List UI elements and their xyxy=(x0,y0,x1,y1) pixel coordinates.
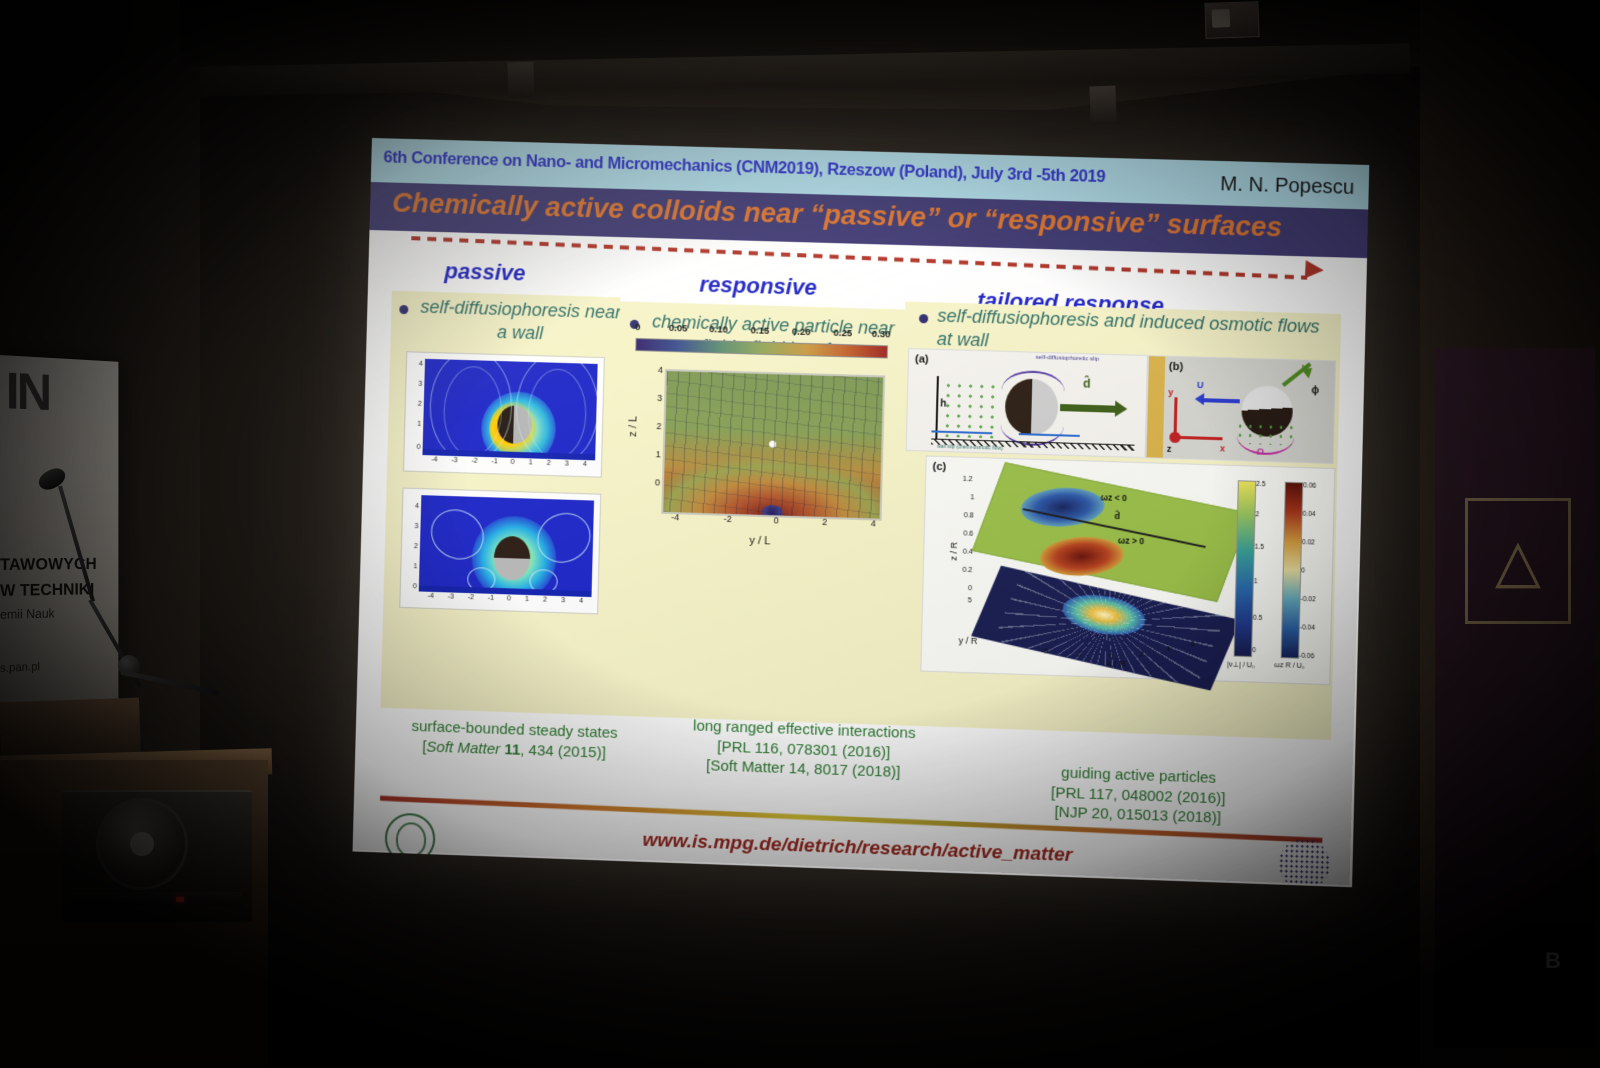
figure-3-y-axis: 432 10 xyxy=(637,362,663,513)
panel-b-u-sd: U xyxy=(1302,363,1309,373)
figure-janus-vertical: 432 10 -4-3-2 -101 234 xyxy=(403,351,605,477)
panel-b-axis-z: z xyxy=(1167,444,1172,454)
device-panel xyxy=(72,892,242,906)
banner-line-2: W TECHNIKI xyxy=(0,579,118,601)
panel-b-axis-x: x xyxy=(1220,443,1225,453)
figure-janus-horizontal: 432 10 -4-3-2 -101 234 xyxy=(399,488,601,615)
panel-c-d-hat: d̂ xyxy=(1114,511,1120,521)
panel-a-wall-annotation: wall slip (chemi-osmotic flow) xyxy=(937,444,1003,452)
panel-c-depth-label: y / R xyxy=(959,635,978,646)
citation-column-2: long ranged effective interactions [PRL … xyxy=(656,715,951,784)
panel-a-slip-annotation: self-diffusiophoretic slip xyxy=(1019,354,1117,364)
figure-2-y-axis: 432 10 xyxy=(403,495,420,592)
citation-1-journal: Soft Matter xyxy=(426,738,500,758)
panel-b-axis-y: y xyxy=(1168,387,1173,397)
ceiling-spotlight xyxy=(507,62,534,99)
cbar-tick-6: 0.30 xyxy=(872,329,891,341)
footer-url[interactable]: www.is.mpg.de/dietrich/research/active_m… xyxy=(533,826,1182,871)
lecture-room: IN TAWOWYCH W TECHNIKI emii Nauk s.pan.p… xyxy=(0,0,1600,1068)
column-1-bullet-text: self-diffusiophoresis near a wall xyxy=(415,295,627,347)
citation-1-rest: , 434 (2015)] xyxy=(520,741,606,761)
panel-c-cbar2-label: ωz R / U₀ xyxy=(1274,662,1305,670)
panel-c-omega-neg: ωz < 0 xyxy=(1101,492,1128,503)
poster-letter: B xyxy=(1545,948,1561,974)
figure-3-plot-area xyxy=(661,369,885,521)
figure-panel-a: (a) self-diffusiophoretic slip d̂ h wall… xyxy=(906,348,1148,458)
cbar-tick-2: 0.10 xyxy=(709,324,728,336)
progression-arrow-head-icon xyxy=(1305,260,1324,279)
cbar-tick-0: 0 xyxy=(635,322,641,333)
cbar-tick-1: 0.05 xyxy=(669,323,688,335)
cbar-tick-4: 0.20 xyxy=(792,326,811,338)
figure-2-plot-area xyxy=(419,495,594,597)
citation-column-3: guiding active particles [PRL 117, 04800… xyxy=(969,760,1307,831)
bullet-icon-3 xyxy=(919,314,928,323)
max-planck-logo-icon xyxy=(384,812,436,864)
column-panel-tailored: self-diffusiophoresis and induced osmoti… xyxy=(895,302,1342,741)
column-heading-passive: passive xyxy=(444,258,526,286)
figure-3-y-label: z / L xyxy=(627,416,640,437)
panel-c-x-label: x / R xyxy=(1107,658,1126,669)
max-planck-logo-caption: MAX-PLANCK-GESELLSCHAFT xyxy=(364,860,445,869)
panel-b-label: (b) xyxy=(1169,361,1184,374)
cbar-tick-3: 0.15 xyxy=(750,325,769,337)
presentation-slide: 6th Conference on Nano- and Micromechani… xyxy=(353,138,1370,887)
figure-panel-c: (c) 1.2 1 0.8 0.6 0.4 0.2 0 5 z / R xyxy=(920,455,1335,685)
institute-banner: IN TAWOWYCH W TECHNIKI emii Nauk s.pan.p… xyxy=(0,355,118,715)
citation-1-volume: 11 xyxy=(504,741,520,759)
panel-b-omega: Ω xyxy=(1257,446,1265,456)
panel-a-label: (a) xyxy=(915,353,929,365)
cbar-tick-5: 0.25 xyxy=(833,328,852,340)
right-poster-panel: △ B xyxy=(1435,348,1595,1048)
panel-c-cbar1-label: |v⊥| / U₀ xyxy=(1227,660,1255,669)
poster-emblem: △ xyxy=(1465,498,1571,624)
panel-c-omega-pos: ωz > 0 xyxy=(1118,535,1145,546)
panels-a-b-row: (a) self-diffusiophoretic slip d̂ h wall… xyxy=(906,348,1336,462)
institute-dot-logo-icon xyxy=(1278,838,1330,887)
figure-panel-b: (b) U U ϕ Ω y xyxy=(1145,355,1336,464)
ceiling-vent xyxy=(1204,1,1259,39)
figure-1-y-axis: 432 10 xyxy=(406,358,423,455)
column-panel-responsive: chemically active particle near a fluid … xyxy=(610,301,906,725)
banner-logo: IN xyxy=(6,365,49,462)
panel-c-y-label: z / R xyxy=(949,542,960,561)
panel-b-u-no: U xyxy=(1197,380,1204,390)
panel-b-phi: ϕ xyxy=(1311,385,1319,396)
banner-line-1: TAWOWYCH xyxy=(0,554,118,575)
author-name: M. N. Popescu xyxy=(1220,173,1355,200)
power-led-icon xyxy=(176,897,184,902)
figure-1-plot-area xyxy=(422,359,597,461)
panel-c-label: (c) xyxy=(932,461,946,474)
panel-a-d-hat: d̂ xyxy=(1083,376,1091,390)
ceiling-spotlight-2 xyxy=(1089,86,1116,123)
figure-3-x-label: y / L xyxy=(749,535,770,548)
column-heading-responsive: responsive xyxy=(699,271,817,301)
banner-line-4: s.pan.pl xyxy=(0,656,118,675)
projection-screen: 6th Conference on Nano- and Micromechani… xyxy=(353,138,1370,887)
reel-icon xyxy=(96,798,188,890)
bullet-icon xyxy=(399,305,408,314)
